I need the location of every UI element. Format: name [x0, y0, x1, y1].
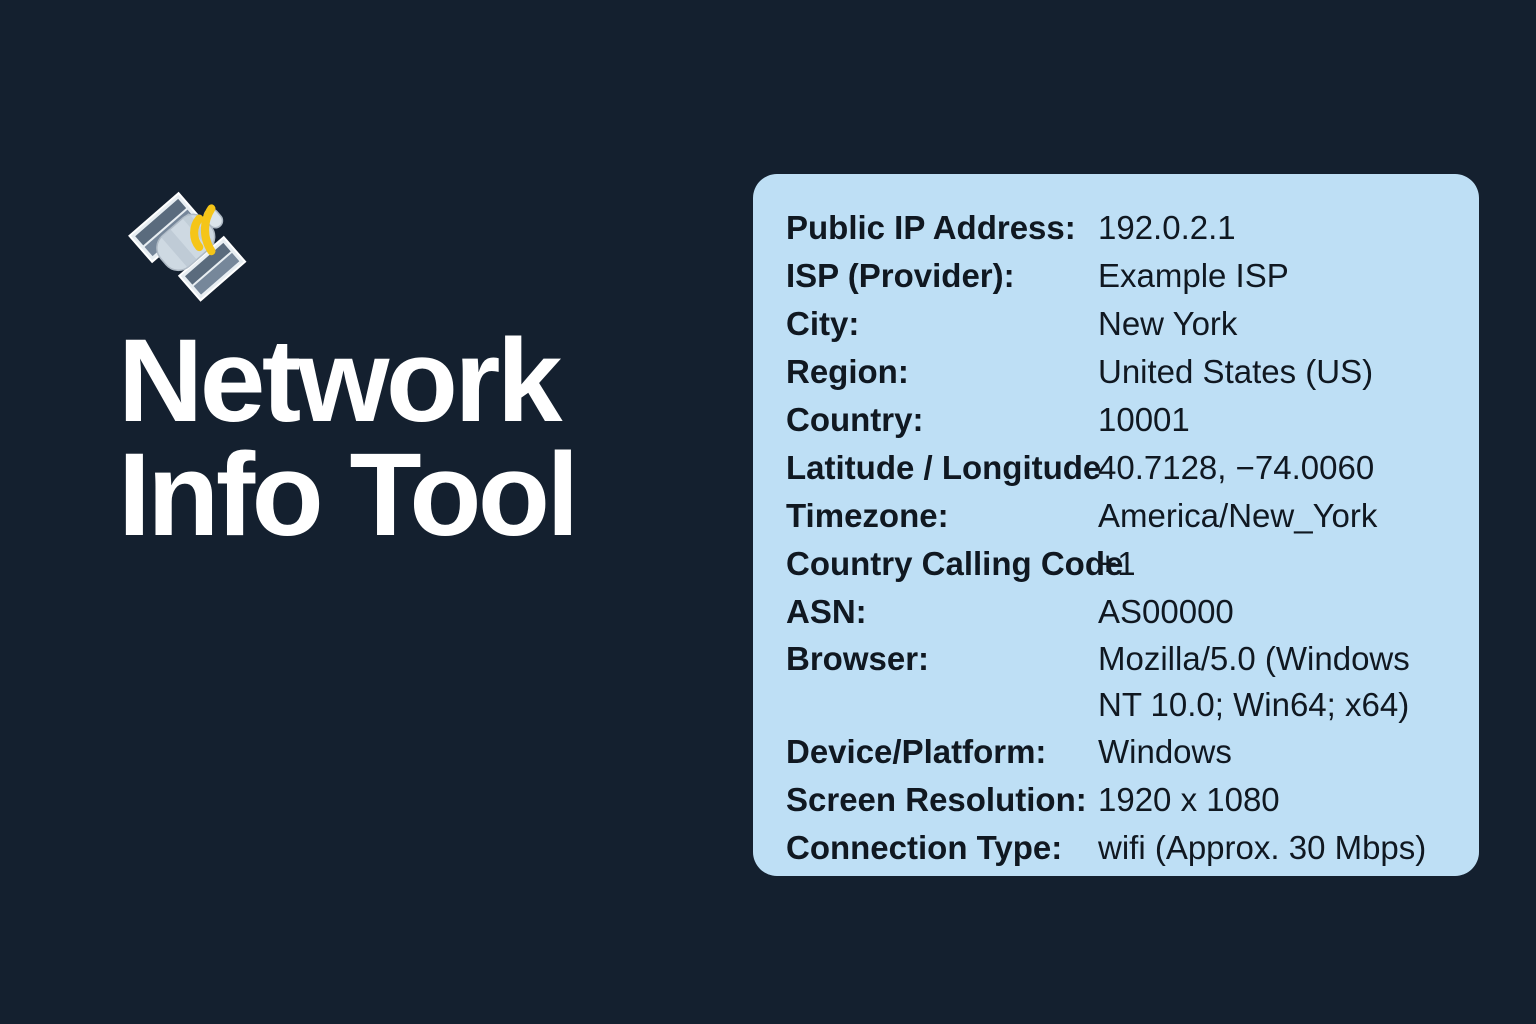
- value-city: New York: [1098, 300, 1449, 348]
- value-screen-resolution: 1920 x 1080: [1098, 776, 1449, 824]
- info-row: Region:United States (US): [786, 348, 1449, 396]
- label-connection-type: Connection Type:: [786, 824, 1098, 872]
- info-row: ASN:AS00000: [786, 588, 1449, 636]
- value-country-calling-code: +1: [1098, 540, 1449, 588]
- label-device-platform: Device/Platform:: [786, 728, 1098, 776]
- app-root: Network Info Tool Public IP Address:192.…: [0, 0, 1536, 1024]
- value-isp-provider: Example ISP: [1098, 252, 1449, 300]
- label-city: City:: [786, 300, 1098, 348]
- label-country-calling-code: Country Calling Code: [786, 540, 1098, 588]
- label-asn: ASN:: [786, 588, 1098, 636]
- info-row: Latitude / Longitude40.7128, −74.0060: [786, 444, 1449, 492]
- label-region: Region:: [786, 348, 1098, 396]
- info-row: Device/Platform:Windows: [786, 728, 1449, 776]
- network-info-list: Public IP Address:192.0.2.1ISP (Provider…: [786, 204, 1449, 872]
- value-browser: Mozilla/5.0 (Windows NT 10.0; Win64; x64…: [1098, 636, 1438, 728]
- value-asn: AS00000: [1098, 588, 1449, 636]
- value-timezone: America/New_York: [1098, 492, 1449, 540]
- value-latitude-longitude: 40.7128, −74.0060: [1098, 444, 1449, 492]
- info-row: City:New York: [786, 300, 1449, 348]
- label-timezone: Timezone:: [786, 492, 1098, 540]
- info-row: Browser:Mozilla/5.0 (Windows NT 10.0; Wi…: [786, 636, 1449, 728]
- info-row: Connection Type:wifi (Approx. 30 Mbps): [786, 824, 1449, 872]
- label-browser: Browser:: [786, 636, 1098, 682]
- label-country: Country:: [786, 396, 1098, 444]
- value-public-ip-address: 192.0.2.1: [1098, 204, 1449, 252]
- satellite-icon: [120, 178, 250, 308]
- value-connection-type: wifi (Approx. 30 Mbps): [1098, 824, 1449, 872]
- label-screen-resolution: Screen Resolution:: [786, 776, 1098, 824]
- network-info-card: Public IP Address:192.0.2.1ISP (Provider…: [753, 174, 1479, 876]
- info-row: Timezone:America/New_York: [786, 492, 1449, 540]
- value-region: United States (US): [1098, 348, 1449, 396]
- info-row: Screen Resolution:1920 x 1080: [786, 776, 1449, 824]
- info-row: Country Calling Code+1: [786, 540, 1449, 588]
- page-title: Network Info Tool: [118, 324, 738, 553]
- value-country: 10001: [1098, 396, 1449, 444]
- info-row: ISP (Provider):Example ISP: [786, 252, 1449, 300]
- label-public-ip-address: Public IP Address:: [786, 204, 1098, 252]
- info-row: Country:10001: [786, 396, 1449, 444]
- value-device-platform: Windows: [1098, 728, 1449, 776]
- hero-block: Network Info Tool: [118, 178, 738, 553]
- label-isp-provider: ISP (Provider):: [786, 252, 1098, 300]
- info-row: Public IP Address:192.0.2.1: [786, 204, 1449, 252]
- label-latitude-longitude: Latitude / Longitude: [786, 444, 1098, 492]
